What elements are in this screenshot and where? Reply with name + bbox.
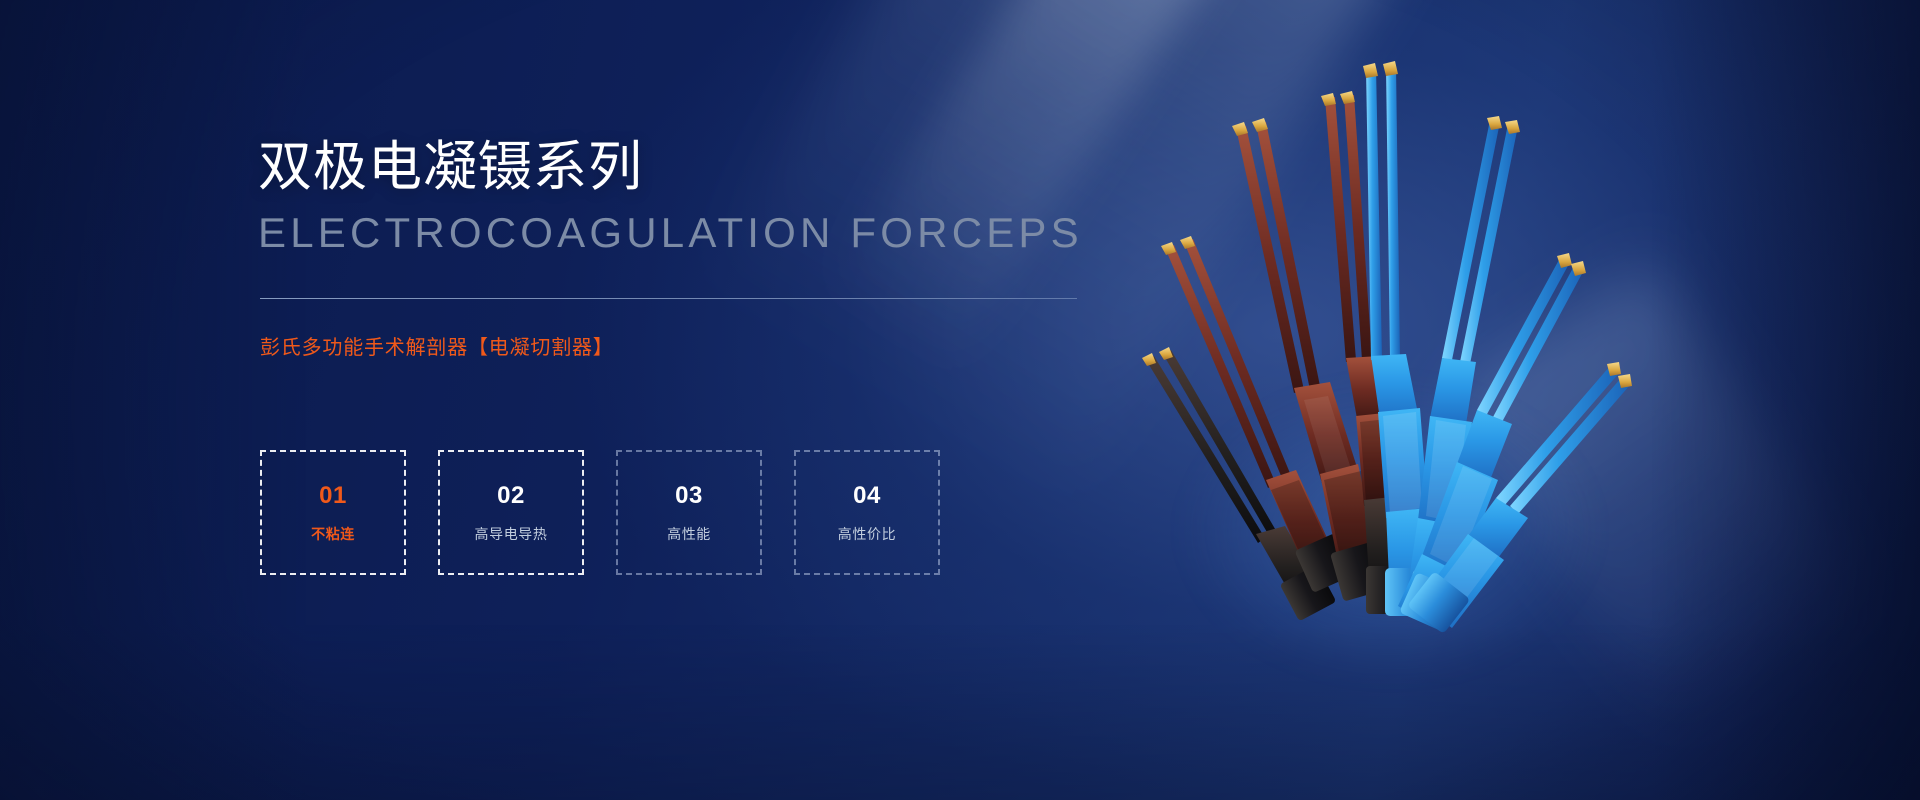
- feature-label: 高性能: [667, 527, 711, 541]
- feature-list: 01 不粘连 02 高导电导热 03 高性能 04 高性价比: [260, 450, 940, 575]
- product-subtitle: 彭氏多功能手术解剖器【电凝切割器】: [260, 338, 614, 358]
- feature-frame: [438, 450, 584, 575]
- feature-card-04[interactable]: 04 高性价比: [794, 450, 940, 575]
- feature-card-02[interactable]: 02 高导电导热: [438, 450, 584, 575]
- feature-label: 不粘连: [311, 527, 355, 541]
- feature-frame: [260, 450, 406, 575]
- feature-number: 04: [853, 484, 881, 508]
- forceps-product-image: [1080, 60, 1640, 620]
- feature-card-03[interactable]: 03 高性能: [616, 450, 762, 575]
- feature-number: 03: [675, 484, 703, 508]
- feature-label: 高性价比: [838, 527, 896, 541]
- feature-card-01[interactable]: 01 不粘连: [260, 450, 406, 575]
- feature-frame: [794, 450, 940, 575]
- feature-label: 高导电导热: [475, 527, 548, 541]
- feature-number: 01: [319, 484, 347, 508]
- page-title-english: ELECTROCOAGULATION FORCEPS: [258, 212, 1083, 254]
- feature-number: 02: [497, 484, 525, 508]
- banner-content: 双极电凝镊系列 ELECTROCOAGULATION FORCEPS 彭氏多功能…: [258, 0, 1138, 800]
- feature-frame: [616, 450, 762, 575]
- title-divider: [260, 298, 1077, 299]
- product-banner: 双极电凝镊系列 ELECTROCOAGULATION FORCEPS 彭氏多功能…: [0, 0, 1920, 800]
- page-title: 双极电凝镊系列: [258, 140, 643, 194]
